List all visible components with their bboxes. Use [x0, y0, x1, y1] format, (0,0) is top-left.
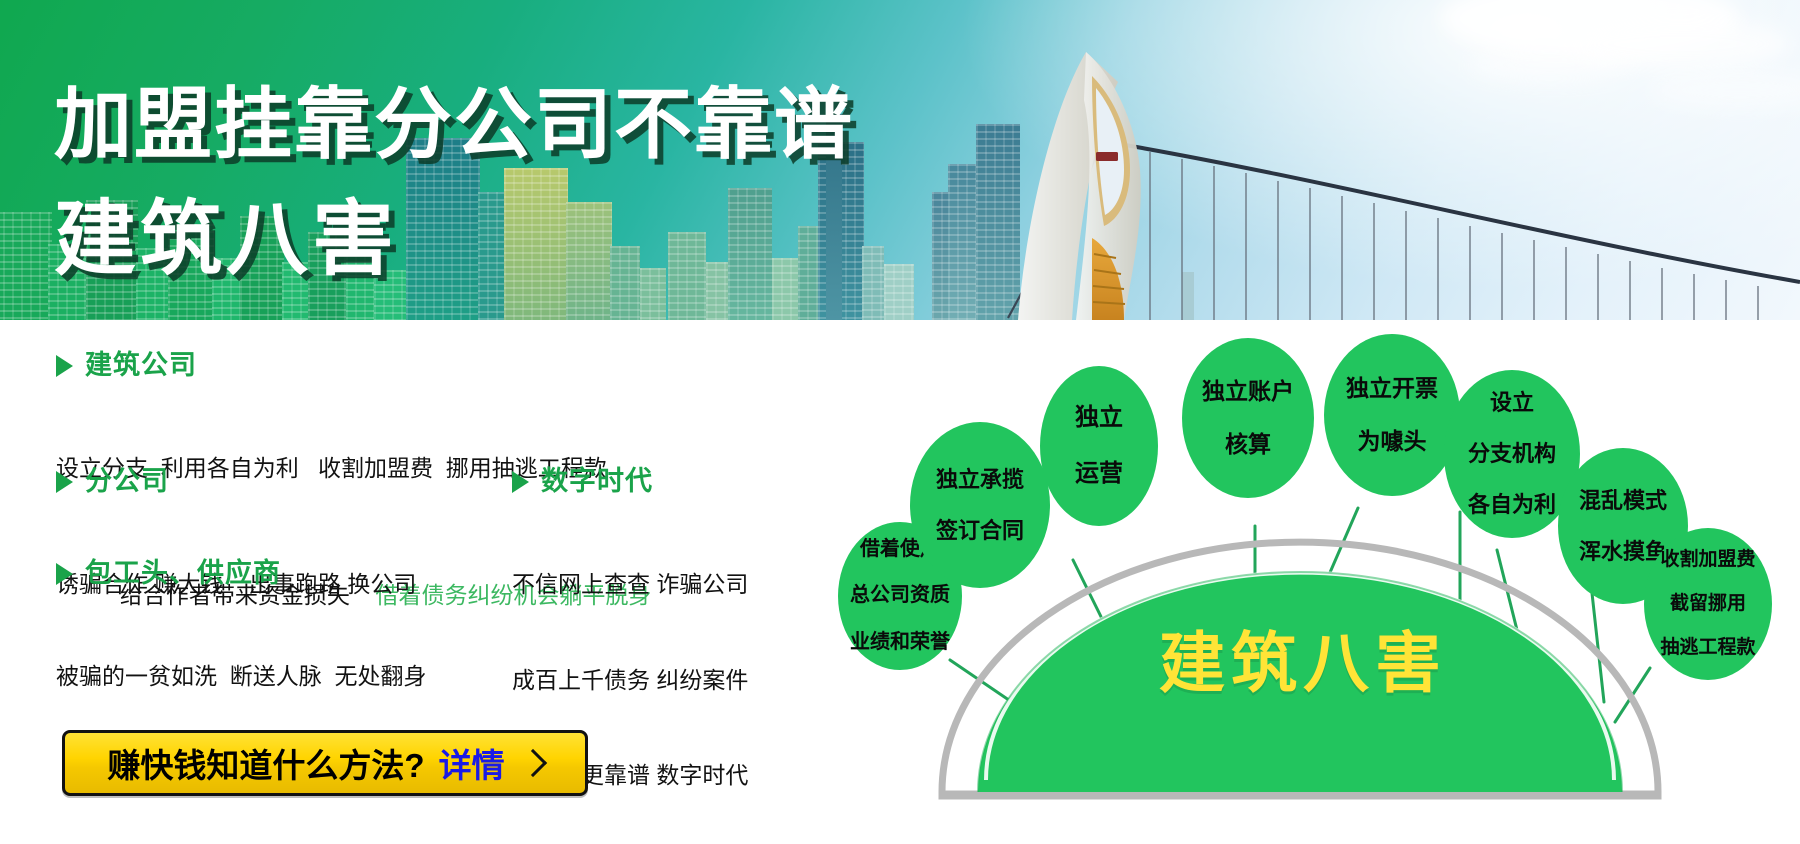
building-silhouette [566, 202, 612, 320]
building-silhouette [504, 168, 568, 320]
bubble-line: 签订合同 [932, 518, 1028, 544]
section-title: 分公司 [85, 468, 169, 495]
hero-headline-2: 建筑八害 [54, 172, 398, 291]
hero-headline-1: 加盟挂靠分公司不靠谱 [54, 62, 854, 174]
bubble-line: 核算 [1198, 431, 1298, 458]
cta-detail-link[interactable]: 详情 [439, 739, 505, 787]
bubble-line: 独立账户 [1198, 378, 1298, 405]
cta-button[interactable]: 赚快钱知道什么方法? 详情 [62, 730, 588, 796]
liede-bridge [1000, 30, 1800, 320]
bubble-line: 独立 [1071, 404, 1127, 432]
bubble-line: 运营 [1071, 460, 1127, 488]
section-title: 数字时代 [541, 468, 653, 495]
bullet-triangle-icon [56, 563, 73, 585]
dome-center-label: 建筑八害 [1118, 610, 1488, 706]
section-title: 包工头、供应商 [85, 560, 281, 587]
bubble-line: 分支机构 [1464, 441, 1560, 467]
bullet-triangle-icon [512, 471, 529, 493]
eight-harms-diagram: 借着使用 总公司资质 业绩和荣誉 独立承揽 签订合同 独立 运营 独立账户 核算 [800, 330, 1800, 844]
bubble-line: 抽逃工程款 [1656, 637, 1759, 659]
bullet-triangle-icon [56, 471, 73, 493]
bubble-line: 独立开票 [1342, 375, 1442, 402]
bubble-line: 截留挪用 [1656, 593, 1759, 615]
section-contractor-supplier: 包工头、供应商 被骗的一贫如洗 断送人脉 无处翻身 [56, 560, 427, 757]
chevron-right-icon [518, 749, 546, 777]
bubble-line: 设立 [1464, 390, 1560, 416]
bubble-harvest-franchise-fee[interactable]: 收割加盟费 截留挪用 抽逃工程款 [1644, 528, 1772, 680]
building-silhouette [668, 232, 706, 320]
left-content-panel: 建筑公司 设立分支 利用各自为利 收割加盟费 挪用抽逃工程款 给合作者带来资金损… [0, 330, 800, 844]
bubble-line: 收割加盟费 [1656, 549, 1759, 571]
hero-banner: 加盟挂靠分公司不靠谱 建筑八害 [0, 0, 1800, 320]
building-silhouette [884, 264, 914, 320]
poster-root: 加盟挂靠分公司不靠谱 建筑八害 建筑公司 设立分支 利用各自为利 收割加盟费 挪… [0, 0, 1800, 844]
bubble-line: 为噱头 [1342, 428, 1442, 455]
bubble-line: 独立承揽 [932, 467, 1028, 493]
section-title: 建筑公司 [85, 352, 197, 379]
bubble-independent-contracting[interactable]: 独立承揽 签订合同 [910, 422, 1050, 588]
section-line: 不信网上查查 诈骗公司 [512, 569, 748, 601]
bubble-independent-operation[interactable]: 独立 运营 [1040, 366, 1158, 526]
building-silhouette [0, 212, 52, 320]
bubble-independent-account[interactable]: 独立账户 核算 [1182, 338, 1314, 498]
cta-question-label: 赚快钱知道什么方法? [107, 739, 424, 787]
building-silhouette [948, 164, 978, 320]
section-line: 被骗的一贫如洗 断送人脉 无处翻身 [56, 661, 427, 693]
bubble-line: 总公司资质 [846, 584, 954, 607]
building-silhouette [862, 246, 884, 320]
building-silhouette [728, 188, 772, 320]
section-line: 成百上千债务 纠纷案件 [512, 665, 748, 697]
building-silhouette [478, 192, 506, 320]
building-silhouette [772, 258, 800, 320]
bubble-independent-invoicing[interactable]: 独立开票 为噱头 [1324, 334, 1460, 496]
building-silhouette [610, 246, 640, 320]
bullet-triangle-icon [56, 355, 73, 377]
building-silhouette [640, 268, 666, 320]
bubble-line: 业绩和荣誉 [846, 631, 954, 654]
building-silhouette [706, 262, 730, 320]
bubble-line: 混乱模式 [1575, 488, 1671, 514]
bubble-line: 各自为利 [1464, 492, 1560, 518]
